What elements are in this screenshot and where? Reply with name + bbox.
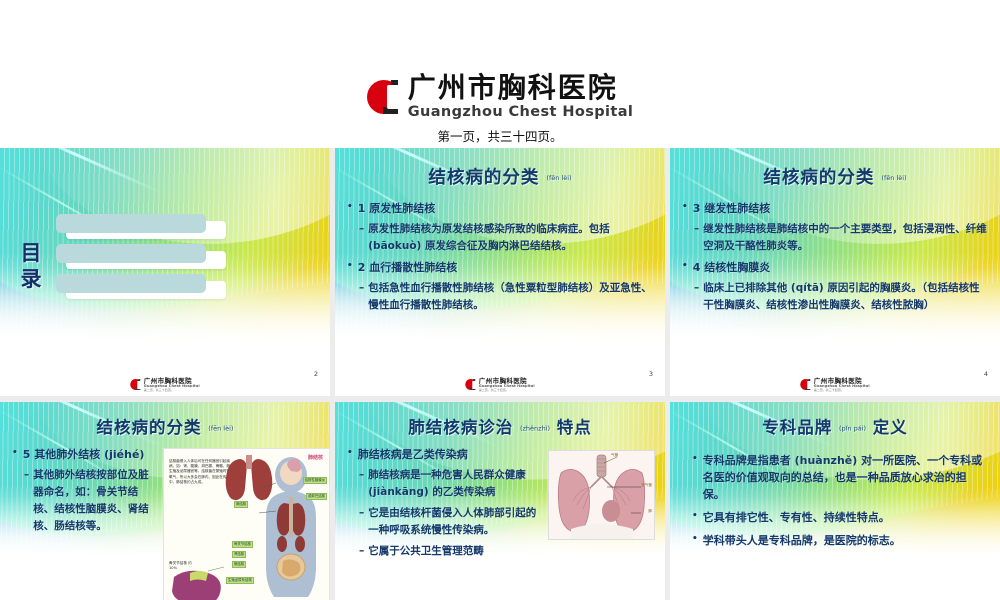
bullet-level1: •1 原发性肺结核 [347,200,655,217]
slide-footer: 广州市胸科医院 Guangzhou Chest Hospital 第二页，共三十… [335,370,665,392]
bullet-level1: •5 其他肺外结核 (jiéhé) [12,446,158,463]
slide-title-pinyin: (fēn lèi) [881,174,906,182]
slide-body: •肺结核病是乙类传染病 –肺结核病是一种危害人民群众健康 (jiànkāng) … [347,446,541,564]
slide-title: 结核病的分类 (fēn lèi) [670,164,1000,189]
hospital-c-logo-icon [130,379,141,390]
toc-label-char-1: 目 [18,240,44,266]
document-header: 广州市胸科医院 Guangzhou Chest Hospital 第一页，共三十… [0,0,1000,148]
slide-title-main: 肺结核病诊治 [408,418,513,437]
slide-footer: 广州市胸科医院 Guangzhou Chest Hospital 第二页，共三十… [670,370,1000,392]
infographic-label: 肾结核 [232,551,246,558]
slide-title-pinyin: (pǐn pái) [839,425,866,433]
bullet-level2: –它是由结核杆菌侵入人体肺部引起的一种呼吸系统慢性传染病。 [359,505,541,539]
slide-classification-2[interactable]: 结核病的分类 (fēn lèi) •3 继发性肺结核 –继发性肺结核是肺结核中的… [670,148,1000,396]
toc-bar-item[interactable] [56,214,226,234]
slide-title-main: 专科品牌 [762,418,832,437]
slide-classification-3[interactable]: 结核病的分类 (fēn lèi) •5 其他肺外结核 (jiéhé) –其他肺外… [0,402,330,600]
toc-bar-item[interactable] [56,244,226,264]
toc-bar-list [56,214,226,304]
bullet-level2: –继发性肺结核是肺结核中的一个主要类型，包括浸润性、纤维空洞及干酪性肺炎等。 [694,221,990,255]
slide-title-tail: 特点 [557,418,592,437]
footer-page-counter: 第二页，共三十四页。 [814,389,870,392]
slide-body: •5 其他肺外结核 (jiéhé) –其他肺外结核按部位及脏器命名，如：骨关节结… [12,446,158,539]
bullet-level1: •2 血行播散性肺结核 [347,259,655,276]
bullet-level1: •专科品牌是指患者 (huànzhě) 对一所医院、一个专科或名医的价值观取向的… [692,452,984,503]
toc-label: 目 录 [18,240,44,293]
footer-page-counter: 第二页，共三十四页。 [144,389,200,392]
hospital-name-cn: 广州市胸科医院 [408,74,634,102]
hospital-c-logo-icon [367,80,401,114]
slide-title-main: 结核病的分类 [428,168,539,188]
lung-illustration [549,451,654,539]
infographic-label: 骨关节结核 [232,541,253,548]
slide-body: •专科品牌是指患者 (huànzhě) 对一所医院、一个专科或名医的价值观取向的… [692,452,984,553]
toc-bar-item[interactable] [56,274,226,294]
hospital-c-logo-icon [465,379,476,390]
footer-page-counter: 第二页，共三十四页。 [479,389,535,392]
toc-label-char-2: 录 [18,266,44,292]
bullet-level1: •它具有排它性、专有性、持续性特点。 [692,509,984,526]
infographic-label: 结核性脑膜炎 [303,477,327,484]
slide-grid: 目 录 2 广州市胸科医院 Guangzhou Chest Hospital [0,148,1000,600]
infographic-label: 生殖泌尿系结核 [226,577,254,584]
slide-title-tail: 定义 [873,418,908,437]
slide-brand-definition[interactable]: 专科品牌 (pǐn pái) 定义 •专科品牌是指患者 (huànzhě) 对一… [670,402,1000,600]
bullet-level1: •肺结核病是乙类传染病 [347,446,541,463]
lung-label-trachea: 气管 [611,453,618,458]
slide-title-main: 结核病的分类 [763,168,874,188]
hospital-c-logo-icon [800,379,811,390]
infographic-percent-note: 骨关节结核 约 10% [169,561,199,571]
bullet-level2: –肺结核病是一种危害人民群众健康 (jiànkāng) 的乙类传染病 [359,467,541,501]
bullet-level1: •4 结核性胸膜炎 [682,259,990,276]
bullet-level2: –原发性肺结核为原发结核感染所致的临床病症。包括 (bāokuò) 原发综合征及… [359,221,655,255]
slide-title-pinyin: (fēn lèi) [208,425,233,433]
slide-title-main: 结核病的分类 [97,418,202,437]
hospital-brand: 广州市胸科医院 Guangzhou Chest Hospital [367,74,634,120]
slide-diagnosis-features[interactable]: 肺结核病诊治 (zhěnzhì) 特点 •肺结核病是乙类传染病 –肺结核病是一种… [335,402,665,600]
slide-title: 专科品牌 (pǐn pái) 定义 [670,414,1000,438]
page-counter: 第一页，共三十四页。 [437,126,562,145]
lung-label-bronchus: 支气管 [641,483,652,488]
infographic-label: 肺结核 [234,501,248,508]
document-page: 广州市胸科医院 Guangzhou Chest Hospital 第一页，共三十… [0,0,1000,600]
slide-title: 结核病的分类 (fēn lèi) [0,414,330,438]
slide-footer: 广州市胸科医院 Guangzhou Chest Hospital 第二页，共三十… [0,370,330,392]
bullet-level2: –它属于公共卫生管理范畴 [359,543,541,560]
slide-body: •1 原发性肺结核 –原发性肺结核为原发结核感染所致的临床病症。包括 (bāok… [347,200,655,318]
slide-classification-1[interactable]: 结核病的分类 (fēn lèi) •1 原发性肺结核 –原发性肺结核为原发结核感… [335,148,665,396]
lung-anatomy-diagram: 气管 支气管 肺 [548,450,655,540]
bullet-level2: –临床上已排除其他 (qítā) 原因引起的胸膜炎。（包括结核性干性胸膜炎、结核… [694,280,990,314]
slide-title-pinyin: (fēn lèi) [546,174,571,182]
bullet-level1: •3 继发性肺结核 [682,200,990,217]
bullet-level2: –包括急性血行播散性肺结核（急性粟粒型肺结核）及亚急性、慢性血行播散性肺结核。 [359,280,655,314]
slide-body: •3 继发性肺结核 –继发性肺结核是肺结核中的一个主要类型，包括浸润性、纤维空洞… [682,200,990,318]
lung-label-lung: 肺 [648,509,652,514]
slide-title-pinyin: (zhěnzhì) [520,425,550,433]
bullet-level2: –其他肺外结核按部位及脏器命名，如：骨关节结核、结核性脑膜炎、肾结核、肠结核等。 [24,467,158,535]
slide-title: 肺结核病诊治 (zhěnzhì) 特点 [335,414,665,438]
tuberculosis-body-infographic: 肺结核 结核菌侵入人体后可在任何器官引起疾病，如：肾、腹膜、淋巴腺、骨骼、肠、生… [163,448,330,600]
slide-title: 结核病的分类 (fēn lèi) [335,164,665,189]
bullet-level1: •学科带头人是专科品牌，是医院的标志。 [692,532,984,549]
hospital-name-en: Guangzhou Chest Hospital [408,105,634,120]
infographic-label: 肠结核 [232,561,246,568]
infographic-label: 颈淋巴结核 [306,493,327,500]
slide-contents[interactable]: 目 录 2 广州市胸科医院 Guangzhou Chest Hospital [0,148,330,396]
